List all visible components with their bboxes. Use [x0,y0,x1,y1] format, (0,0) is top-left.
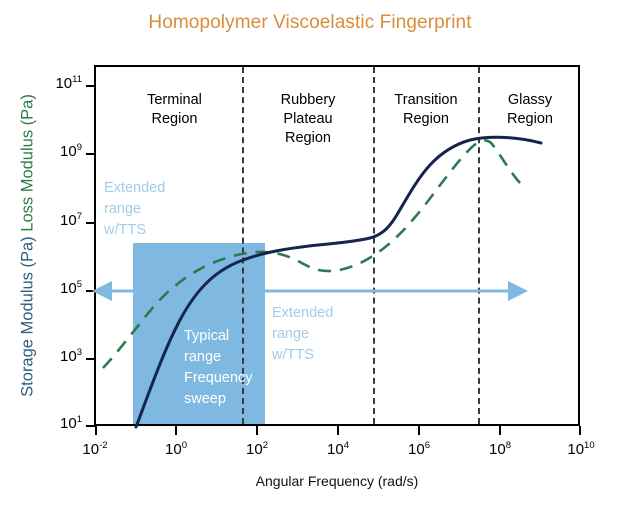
y-tick-exponent: 3 [77,347,82,358]
tts-left-line3: w/TTS [104,220,194,241]
region-label-rubbery-line1: Rubbery [248,91,368,110]
typical-range-line2: range [184,347,274,368]
x-tick-exponent: 2 [263,440,268,451]
x-tick-exponent: 10 [584,440,595,451]
typical-range-line4: sweep [184,389,274,410]
region-label-transition: Transition Region [378,91,474,129]
region-divider-transition-glassy [478,67,480,424]
x-tick-exponent: 4 [344,440,349,451]
x-tick-mark [256,426,258,435]
tts-right-line3: w/TTS [272,345,362,366]
y-tick-mark [86,85,95,87]
region-label-rubbery-plateau: Rubbery Plateau Region [248,91,368,148]
typical-range-label: Typical range Frequency sweep [184,326,274,410]
tts-left-line2: range [104,199,194,220]
region-label-rubbery-line2: Plateau [248,110,368,129]
page-title: Homopolymer Viscoelastic Fingerprint [0,12,620,34]
tts-right-line2: range [272,324,362,345]
region-label-transition-line1: Transition [378,91,474,110]
y-tick-mark [86,358,95,360]
region-label-transition-line2: Region [378,110,474,129]
x-tick-exponent: 6 [425,440,430,451]
y-tick-mark [86,290,95,292]
y-axis-title-storage: Storage Modulus (Pa) [19,236,37,397]
y-tick-label: 109 [22,142,82,160]
y-tick-exponent: 7 [77,211,82,222]
typical-range-line3: Frequency [184,368,274,389]
chart-figure: Homopolymer Viscoelastic Fingerprint Sto… [0,0,620,522]
y-tick-label: 1011 [22,74,82,92]
y-tick-mark [86,425,95,427]
extended-range-tts-label-right: Extended range w/TTS [272,303,362,366]
x-tick-exponent: 8 [506,440,511,451]
y-tick-mark [86,222,95,224]
x-tick-label: 104 [308,440,368,458]
region-label-terminal-line2: Region [112,110,237,129]
extended-range-tts-label-left: Extended range w/TTS [104,178,194,241]
y-tick-mark [86,153,95,155]
region-label-terminal-line1: Terminal [112,91,237,110]
x-axis-title: Angular Frequency (rad/s) [94,473,580,489]
region-label-glassy-line1: Glassy [483,91,577,110]
x-tick-mark [175,426,177,435]
x-tick-label: 106 [389,440,449,458]
x-tick-exponent: 0 [182,440,187,451]
y-tick-label: 107 [22,211,82,229]
typical-range-line1: Typical [184,326,274,347]
x-tick-label: 10-2 [65,440,125,458]
tts-right-line1: Extended [272,303,362,324]
x-tick-exponent: -2 [99,440,107,451]
y-tick-label: 105 [22,279,82,297]
x-tick-mark [95,426,97,435]
tts-left-line1: Extended [104,178,194,199]
x-tick-mark [418,426,420,435]
region-divider-rubbery-transition [373,67,375,424]
x-tick-label: 1010 [551,440,611,458]
x-tick-mark [579,426,581,435]
x-tick-mark [337,426,339,435]
y-tick-label: 101 [22,414,82,432]
region-label-glassy: Glassy Region [483,91,577,129]
y-tick-label: 103 [22,347,82,365]
x-tick-label: 108 [470,440,530,458]
x-tick-mark [499,426,501,435]
x-tick-label: 102 [227,440,287,458]
y-tick-exponent: 1 [77,414,82,425]
region-label-terminal: Terminal Region [112,91,237,129]
x-tick-label: 100 [146,440,206,458]
y-axis-title: Storage Modulus (Pa) Loss Modulus (Pa) [19,46,38,446]
region-label-glassy-line2: Region [483,110,577,129]
y-tick-exponent: 9 [77,142,82,153]
y-tick-exponent: 11 [72,74,82,85]
y-tick-exponent: 5 [77,279,82,290]
region-label-rubbery-line3: Region [248,129,368,148]
y-axis-title-space [19,232,37,237]
